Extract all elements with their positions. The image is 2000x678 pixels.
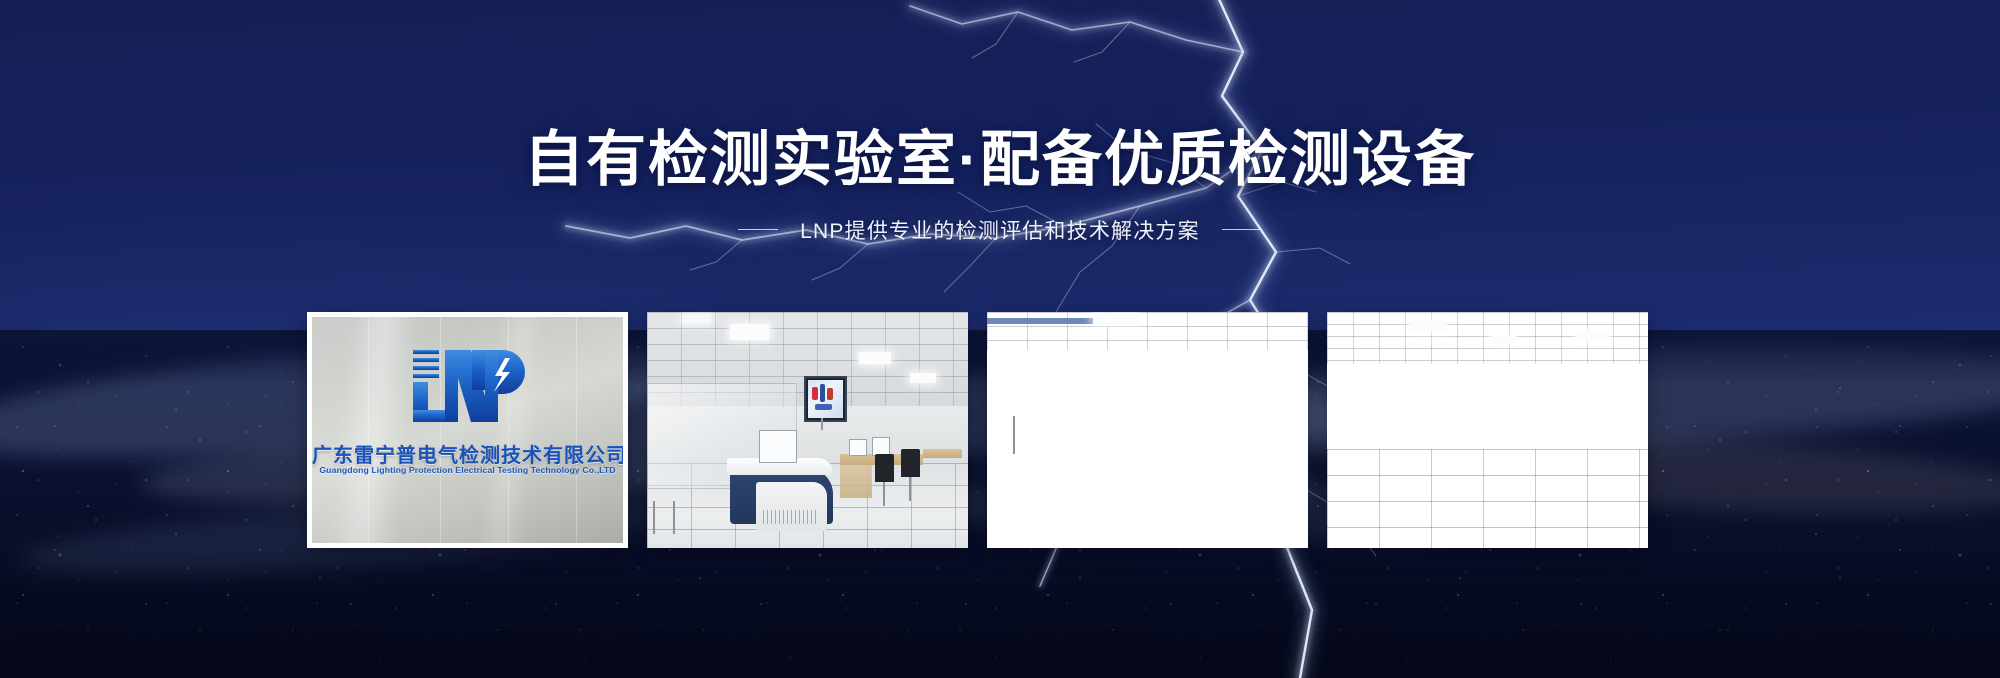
photo-gallery: 广东雷宁普电气检测技术有限公司 Guangdong Lighting Prote… <box>307 312 1648 548</box>
banner-subtitle: LNP提供专业的检测评估和技术解决方案 <box>800 215 1200 245</box>
rule-right <box>1222 229 1262 230</box>
rule-left <box>738 229 778 230</box>
banner-title: 自有检测实验室·配备优质检测设备 <box>0 128 2000 193</box>
gallery-card-training-meeting-room[interactable] <box>987 312 1308 548</box>
photo-company-signboard: 广东雷宁普电气检测技术有限公司 Guangdong Lighting Prote… <box>312 317 623 543</box>
lnp-logo-icon <box>409 340 527 432</box>
company-name-en: Guangdong Lighting Protection Electrical… <box>312 465 623 475</box>
photo-testing-laboratory <box>647 312 968 548</box>
gallery-card-testing-laboratory[interactable] <box>647 312 968 548</box>
gallery-card-company-signboard[interactable]: 广东雷宁普电气检测技术有限公司 Guangdong Lighting Prote… <box>307 312 628 548</box>
company-name-cn: 广东雷宁普电气检测技术有限公司 <box>312 439 623 468</box>
hero-banner: 自有检测实验室·配备优质检测设备 LNP提供专业的检测评估和技术解决方案 <box>0 0 2000 678</box>
photo-office-area <box>1327 312 1648 548</box>
photo-training-meeting-room <box>987 312 1308 548</box>
gallery-card-office-area[interactable] <box>1327 312 1648 548</box>
headline-block: 自有检测实验室·配备优质检测设备 LNP提供专业的检测评估和技术解决方案 <box>0 128 2000 245</box>
subtitle-row: LNP提供专业的检测评估和技术解决方案 <box>0 215 2000 245</box>
